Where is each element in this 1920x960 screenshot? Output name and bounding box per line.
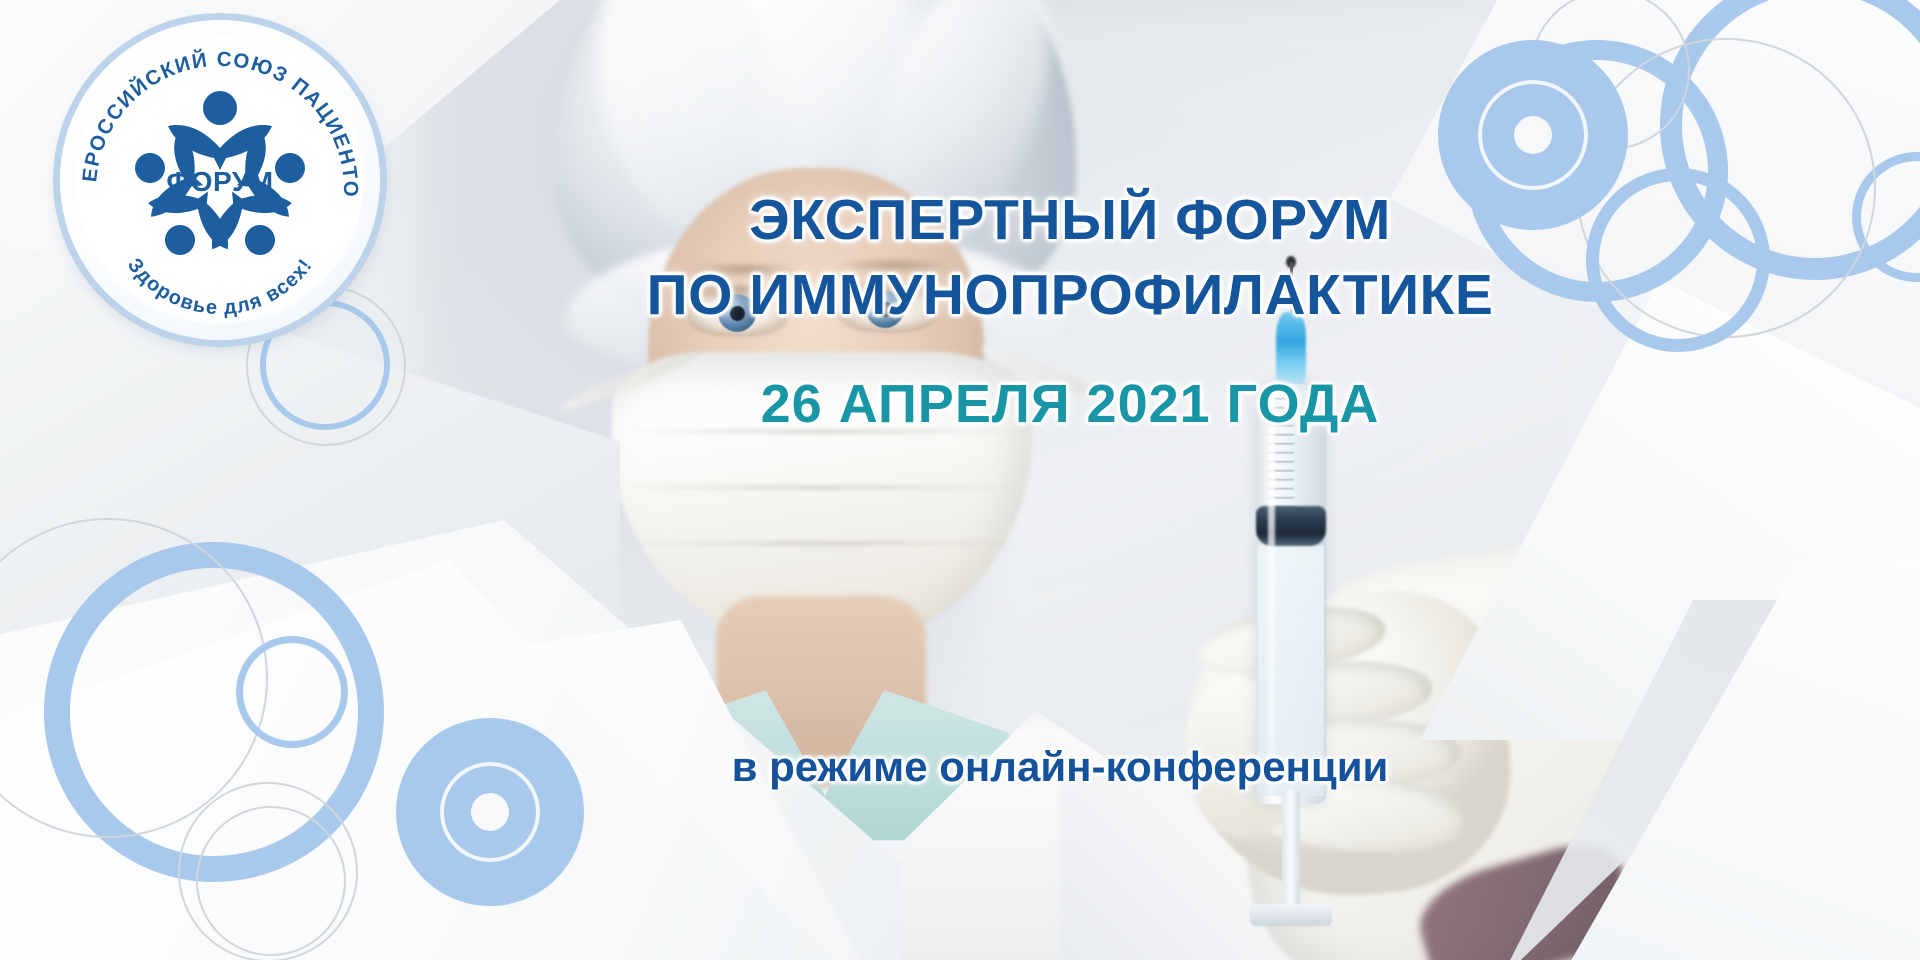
syringe-plunger-rod (1282, 790, 1300, 920)
vsp-forum-logo[interactable]: ВСЕРОССИЙСКИЙ СОЮЗ ПАЦИЕНТОВ Здоровье дл… (60, 20, 380, 340)
headline-line-2: ПО ИММУНОПРОФИЛАКТИКЕ (540, 258, 1600, 333)
logo-center-label: ФОРУМ (60, 166, 380, 198)
headline-line-1: ЭКСПЕРТНЫЙ ФОРУМ (749, 188, 1391, 252)
ring-bottom-left-hair3 (196, 806, 346, 956)
syringe-plunger-seal (1256, 506, 1326, 546)
syringe-flange (1250, 904, 1332, 926)
mask-pleat (620, 542, 1024, 545)
disc-mid-left-hole (471, 793, 509, 831)
event-mode: в режиме онлайн-конференции (500, 740, 1620, 794)
event-banner: ВСЕРОССИЙСКИЙ СОЮЗ ПАЦИЕНТОВ Здоровье дл… (0, 0, 1920, 960)
syringe-highlight (1268, 386, 1275, 796)
event-date: 26 АПРЕЛЯ 2021 ГОДА (540, 372, 1600, 436)
mask-pleat (620, 486, 1024, 489)
ring-mid-right (1586, 168, 1770, 352)
ring-bottom-left-mid (236, 636, 348, 748)
page-title: ЭКСПЕРТНЫЙ ФОРУМ ПО ИММУНОПРОФИЛАКТИКЕ (540, 108, 1600, 408)
